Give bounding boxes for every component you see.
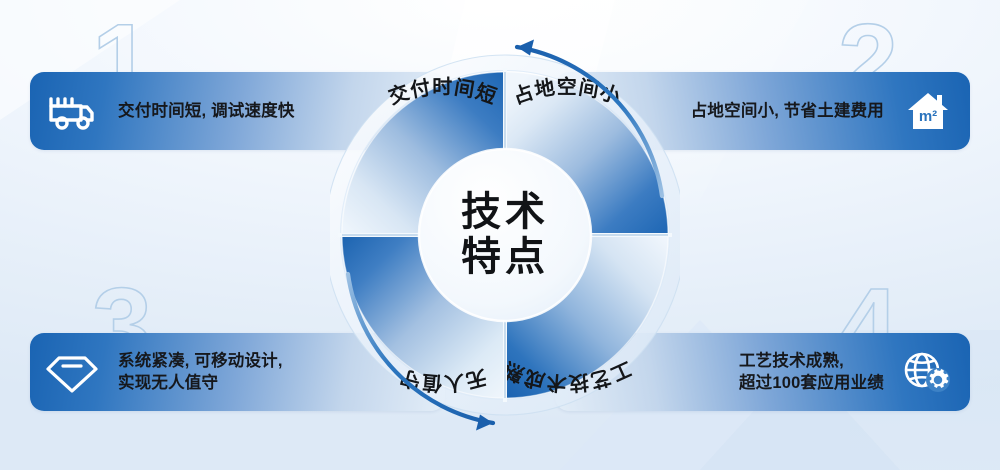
feature-banner-4-text: 工艺技术成熟, 超过100套应用业绩 [739, 350, 884, 395]
delivery-truck-icon [30, 90, 114, 132]
house-square-meter-icon: m² [886, 89, 970, 133]
feature-banner-2-text: 占地空间小, 节省土建费用 [691, 100, 884, 122]
feature-banner-3-text: 系统紧凑, 可移动设计, 实现无人值守 [118, 350, 283, 395]
house-icon-unit-label: m² [919, 108, 937, 125]
technology-features-wheel: 交付时间短 占地空间小 无人值守 工艺技术成熟 [330, 28, 680, 442]
infographic-canvas: 1 2 3 4 交付时间短, 调试速度快 占地空间小, 节省土建费用 [0, 0, 1000, 470]
diamond-icon [30, 349, 114, 395]
feature-banner-1-text: 交付时间短, 调试速度快 [118, 100, 295, 122]
globe-gear-icon [886, 349, 970, 395]
